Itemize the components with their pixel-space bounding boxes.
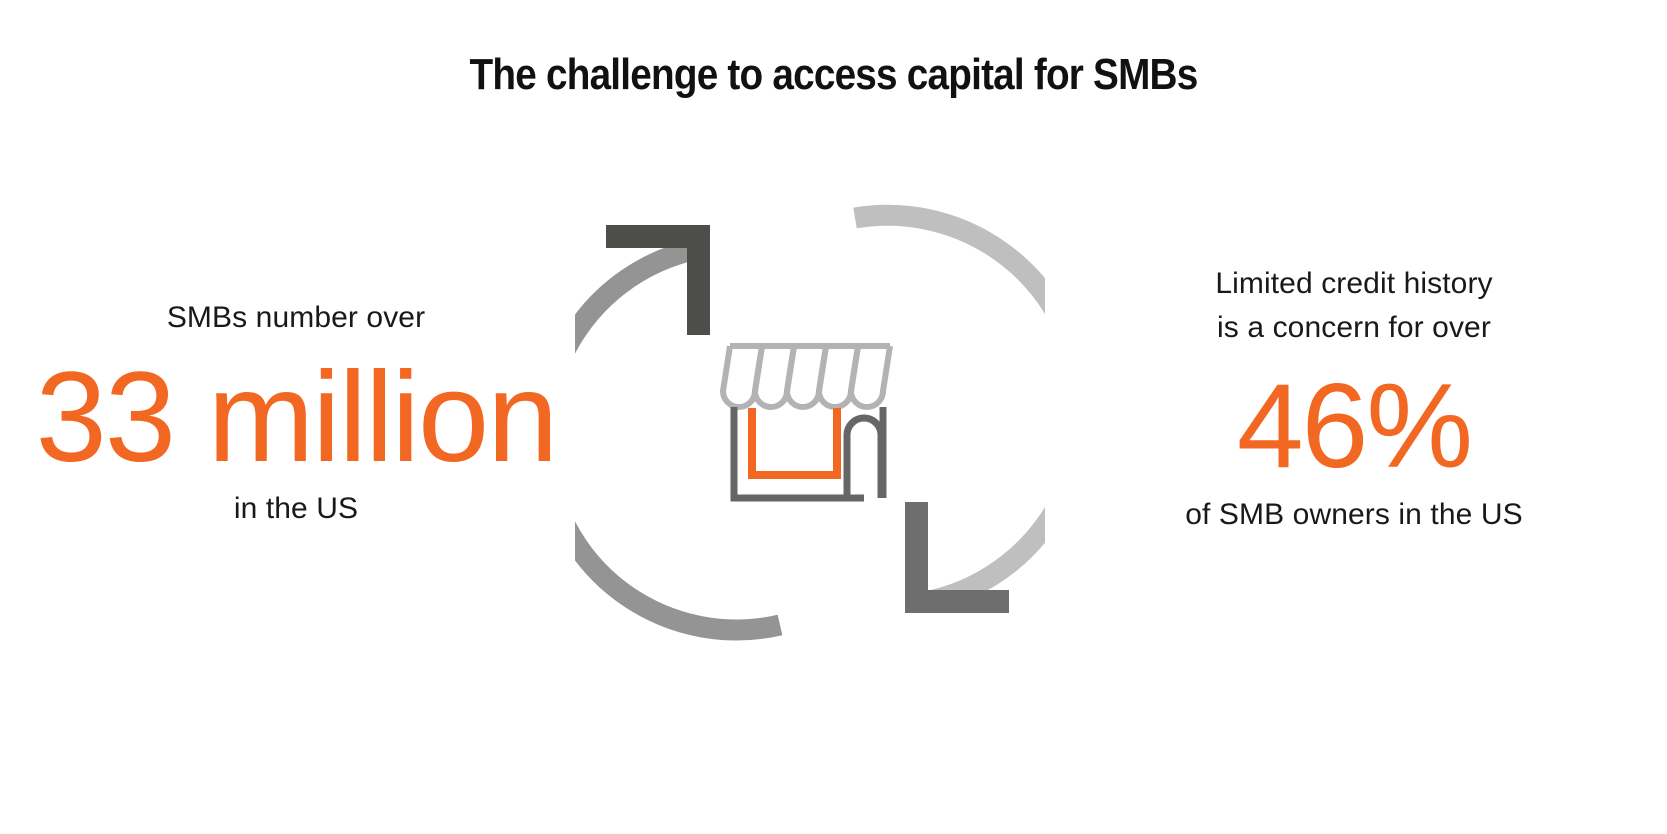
stat-right-caption-line1: Limited credit history: [1066, 262, 1642, 306]
stat-left-value: 33 million: [8, 354, 584, 482]
awning-panel-5: [851, 346, 890, 407]
page-title: The challenge to access capital for SMBs: [100, 50, 1567, 100]
arrowhead-bottom-right-icon: [905, 502, 1009, 613]
stat-right-subtext: of SMB owners in the US: [1066, 496, 1642, 534]
stat-right-caption-line2: is a concern for over: [1066, 306, 1642, 350]
infographic-canvas: The challenge to access capital for SMBs…: [0, 0, 1667, 834]
stat-left-subtext: in the US: [8, 490, 584, 528]
storefront-cycle-icon: [575, 195, 1045, 655]
stat-block-credit-history: Limited credit history is a concern for …: [1066, 262, 1642, 534]
stat-left-caption: SMBs number over: [8, 296, 584, 340]
storefront-door-arch: [847, 418, 881, 498]
storefront-window-orange: [752, 408, 837, 475]
stat-right-value: 46%: [1066, 366, 1642, 486]
stat-block-smb-count: SMBs number over 33 million in the US: [8, 296, 584, 528]
